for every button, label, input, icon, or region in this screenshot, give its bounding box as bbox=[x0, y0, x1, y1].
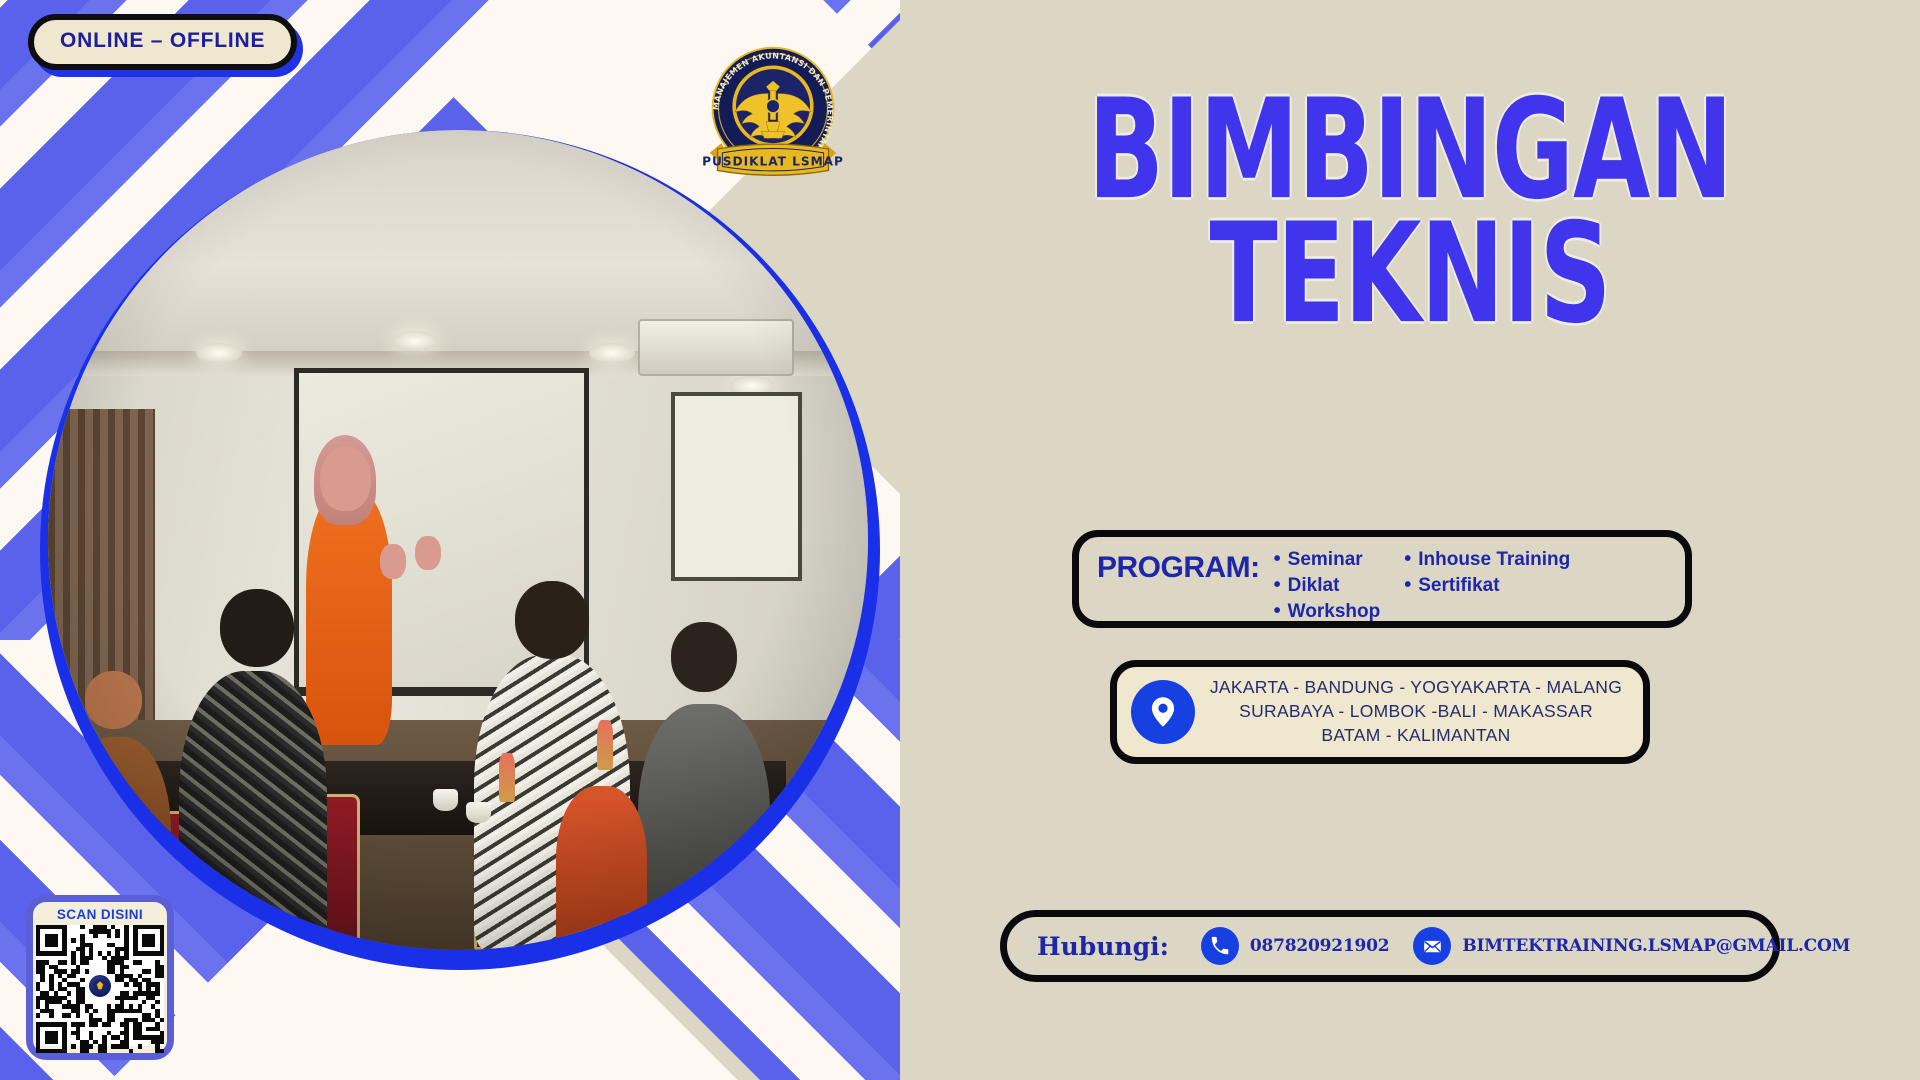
logo-ribbon: PUSDIKLAT LSMAP bbox=[702, 143, 844, 175]
program-box: PROGRAM: Seminar Diklat Workshop Inhouse… bbox=[1072, 530, 1692, 628]
qr-code[interactable] bbox=[36, 925, 164, 1046]
program-label: PROGRAM: bbox=[1097, 551, 1260, 585]
logo-ribbon-text: PUSDIKLAT LSMAP bbox=[702, 155, 844, 169]
envelope-icon bbox=[1413, 927, 1451, 965]
program-column-1: Seminar Diklat Workshop bbox=[1274, 547, 1381, 625]
location-line: SURABAYA - LOMBOK -BALI - MAKASSAR bbox=[1205, 700, 1627, 724]
program-column-2: Inhouse Training Sertifikat bbox=[1404, 547, 1570, 625]
online-offline-badge[interactable]: ONLINE – OFFLINE bbox=[28, 14, 297, 70]
qr-title: SCAN DISINI bbox=[57, 907, 143, 922]
seminar-room-photo bbox=[48, 130, 868, 950]
program-item: Sertifikat bbox=[1404, 573, 1570, 598]
phone-glyph bbox=[1209, 935, 1231, 957]
qr-center-logo bbox=[87, 973, 113, 999]
program-item: Workshop bbox=[1274, 599, 1381, 624]
lsmap-logo-svg: LEMBAGA STUDI MANAJEMEN AKUNTANSI DAN PE… bbox=[700, 38, 846, 186]
location-lines: JAKARTA - BANDUNG - YOGYAKARTA - MALANG … bbox=[1205, 676, 1627, 747]
location-line: BATAM - KALIMANTAN bbox=[1205, 724, 1627, 748]
phone-icon bbox=[1201, 927, 1239, 965]
photo-ring bbox=[40, 130, 880, 970]
online-offline-label: ONLINE – OFFLINE bbox=[60, 29, 265, 52]
program-item: Seminar bbox=[1274, 547, 1381, 572]
program-item: Diklat bbox=[1274, 573, 1381, 598]
envelope-glyph bbox=[1422, 936, 1443, 957]
locations-box: JAKARTA - BANDUNG - YOGYAKARTA - MALANG … bbox=[1110, 660, 1650, 764]
phone-number: 087820921902 bbox=[1250, 936, 1390, 956]
page-title: BIMBINGAN TEKNIS bbox=[1020, 95, 1800, 299]
program-columns: Seminar Diklat Workshop Inhouse Training… bbox=[1274, 547, 1671, 625]
email-contact[interactable]: BIMTEKTRAINING.LSMAP@GMAIL.COM bbox=[1413, 927, 1850, 965]
map-pin-glyph bbox=[1145, 694, 1181, 730]
lsmap-logo: LEMBAGA STUDI MANAJEMEN AKUNTANSI DAN PE… bbox=[700, 38, 846, 186]
contact-bar: Hubungi: 087820921902 BIMTEKTRAINING.LSM… bbox=[1000, 910, 1780, 982]
photo-scene bbox=[48, 130, 868, 950]
program-item: Inhouse Training bbox=[1404, 547, 1570, 572]
map-pin-icon bbox=[1131, 680, 1195, 744]
title-line-2: TEKNIS bbox=[1020, 219, 1800, 329]
email-address: BIMTEKTRAINING.LSMAP@GMAIL.COM bbox=[1462, 936, 1850, 956]
location-line: JAKARTA - BANDUNG - YOGYAKARTA - MALANG bbox=[1205, 676, 1627, 700]
phone-contact[interactable]: 087820921902 bbox=[1201, 927, 1390, 965]
title-line-1: BIMBINGAN bbox=[1020, 95, 1800, 205]
photo-vignette bbox=[48, 130, 868, 950]
contact-label: Hubungi: bbox=[1037, 932, 1169, 961]
flyer-canvas: ONLINE – OFFLINE LEMBAGA STUDI MANAJEMEN… bbox=[0, 0, 1920, 1080]
qr-logo-glyph bbox=[92, 978, 108, 994]
qr-card[interactable]: SCAN DISINI bbox=[26, 895, 174, 1060]
